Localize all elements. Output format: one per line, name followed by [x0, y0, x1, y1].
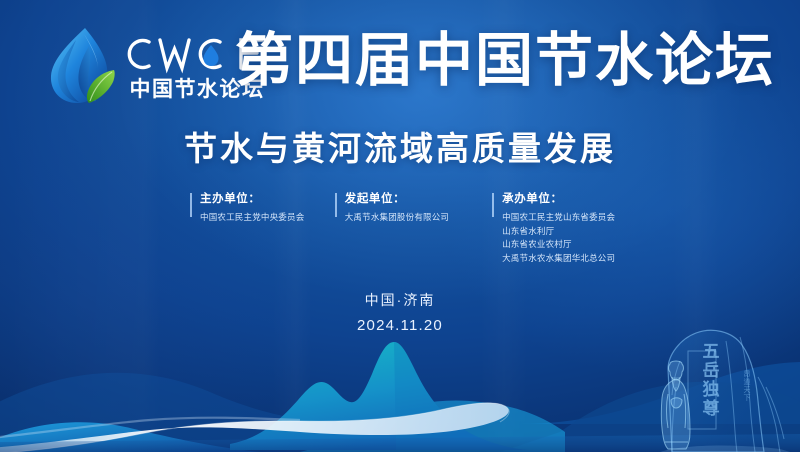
- page-subtitle: 节水与黄河流域高质量发展: [0, 122, 800, 170]
- stele-side-inscription: 昂 道 天 下: [742, 371, 752, 402]
- mount-tai-stone-stele: [640, 317, 790, 452]
- organizer-items: 中国农工民主党山东省委员会 山东省水利厅 山东省农业农村厅 大禹节水农水集团华北…: [502, 211, 620, 266]
- page-title: 第四届中国节水论坛: [235, 27, 775, 95]
- stele-char: 五: [703, 344, 720, 361]
- scholar-statue-icon: [652, 358, 700, 450]
- organizer-list: 主办单位： 中国农工民主党中央委员会 发起单位： 大禹节水集团股份有限公司 承办…: [190, 192, 620, 266]
- stele-char: 岳: [703, 363, 720, 380]
- stele-char: 尊: [703, 401, 720, 418]
- stele-side-char: 道: [744, 379, 751, 386]
- stele-side-char: 昂: [744, 371, 751, 378]
- list-item: 山东省农业农村厅: [502, 238, 620, 252]
- organizer-block-initiator: 发起单位： 大禹节水集团股份有限公司: [335, 192, 492, 225]
- list-item: 大禹节水农水集团华北总公司: [502, 252, 620, 266]
- organizer-heading: 发起单位：: [345, 192, 492, 207]
- conference-banner: 中国节水论坛 第四届中国节水论坛 节水与黄河流域高质量发展 主办单位： 中国农工…: [0, 0, 800, 452]
- stele-char: 独: [703, 382, 720, 399]
- list-item: 山东省水利厅: [502, 225, 620, 239]
- water-drop-leaf-icon: [44, 24, 118, 106]
- stele-side-char: 天: [744, 387, 751, 394]
- stele-side-char: 下: [744, 395, 751, 402]
- list-item: 中国农工民主党山东省委员会: [502, 211, 620, 225]
- list-item: 大禹节水集团股份有限公司: [345, 211, 492, 225]
- list-item: 中国农工民主党中央委员会: [200, 211, 335, 225]
- organizer-block-undertaker: 承办单位： 中国农工民主党山东省委员会 山东省水利厅 山东省农业农村厅 大禹节水…: [492, 192, 620, 266]
- event-date: 2024.11.20: [0, 315, 800, 336]
- organizer-heading: 承办单位：: [502, 192, 620, 207]
- organizer-items: 大禹节水集团股份有限公司: [345, 211, 492, 225]
- stele-inscription: 五 岳 独 尊: [700, 344, 722, 418]
- organizer-heading: 主办单位：: [200, 192, 335, 207]
- organizer-items: 中国农工民主党中央委员会: [200, 211, 335, 225]
- event-meta: 中国·济南 2024.11.20: [0, 290, 800, 336]
- event-location: 中国·济南: [0, 290, 800, 311]
- organizer-block-host: 主办单位： 中国农工民主党中央委员会: [190, 192, 335, 225]
